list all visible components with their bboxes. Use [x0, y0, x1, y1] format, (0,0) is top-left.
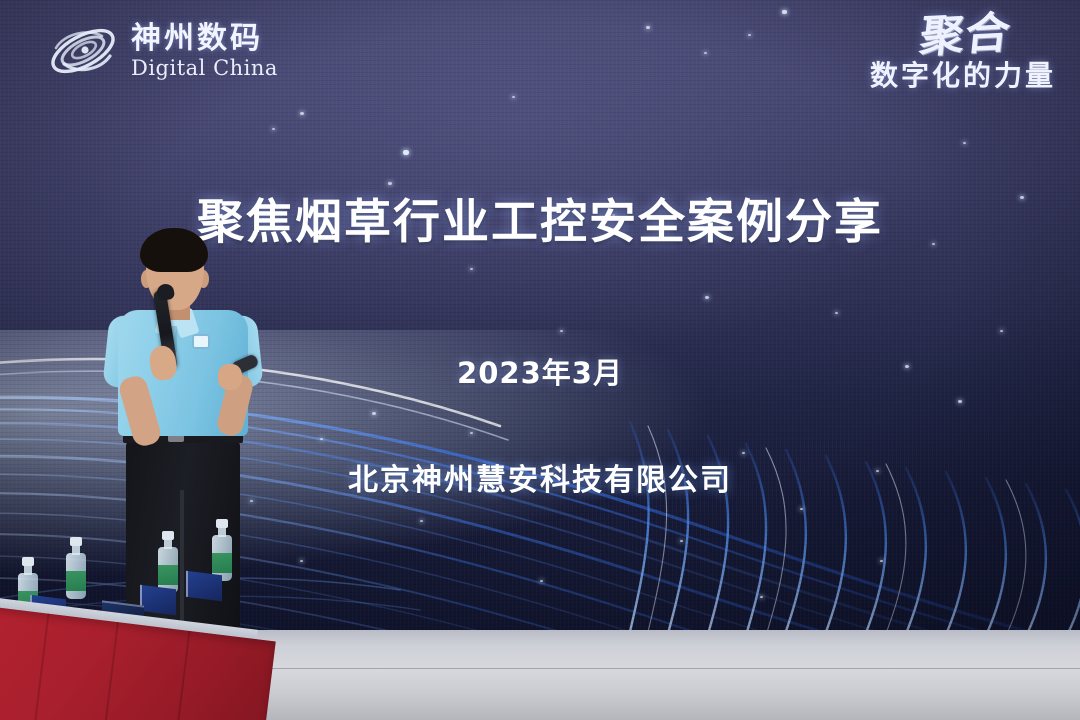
brand-name-cn: 神州数码 — [131, 24, 278, 54]
particle-dot — [704, 52, 707, 54]
brand-name-en: Digital China — [131, 58, 278, 79]
water-bottle — [66, 537, 86, 599]
particle-dot — [470, 268, 473, 270]
digital-china-logo: 神州数码 Digital China — [44, 18, 278, 84]
water-bottle — [158, 531, 178, 593]
particle-dot — [300, 112, 304, 115]
digital-china-wordmark: 神州数码 Digital China — [131, 24, 278, 79]
particle-dot — [782, 10, 787, 14]
particle-dot — [963, 142, 966, 144]
speaker-hand-right — [218, 364, 242, 390]
conference-photo: 神州数码 Digital China 聚合 数字化的力量 聚焦烟草行业工控安全案… — [0, 0, 1080, 720]
particle-dot — [646, 26, 650, 29]
digital-china-swirl-icon — [44, 18, 122, 84]
particle-dot — [403, 150, 409, 155]
particle-dot — [748, 34, 751, 36]
panel-table — [0, 545, 290, 720]
polo-chest-logo — [192, 334, 210, 349]
particle-dot — [512, 96, 515, 98]
particle-dot — [272, 128, 275, 130]
light-stream-vertical — [620, 400, 1080, 648]
speaker-hair — [140, 228, 208, 272]
event-calligraphy: 聚合 — [867, 12, 1012, 61]
particle-dot — [705, 296, 709, 299]
water-bottle — [212, 519, 232, 581]
name-card — [186, 571, 222, 601]
name-card — [140, 585, 176, 615]
particle-dot — [835, 312, 838, 314]
event-logo: 聚合 数字化的力量 — [870, 16, 1056, 94]
